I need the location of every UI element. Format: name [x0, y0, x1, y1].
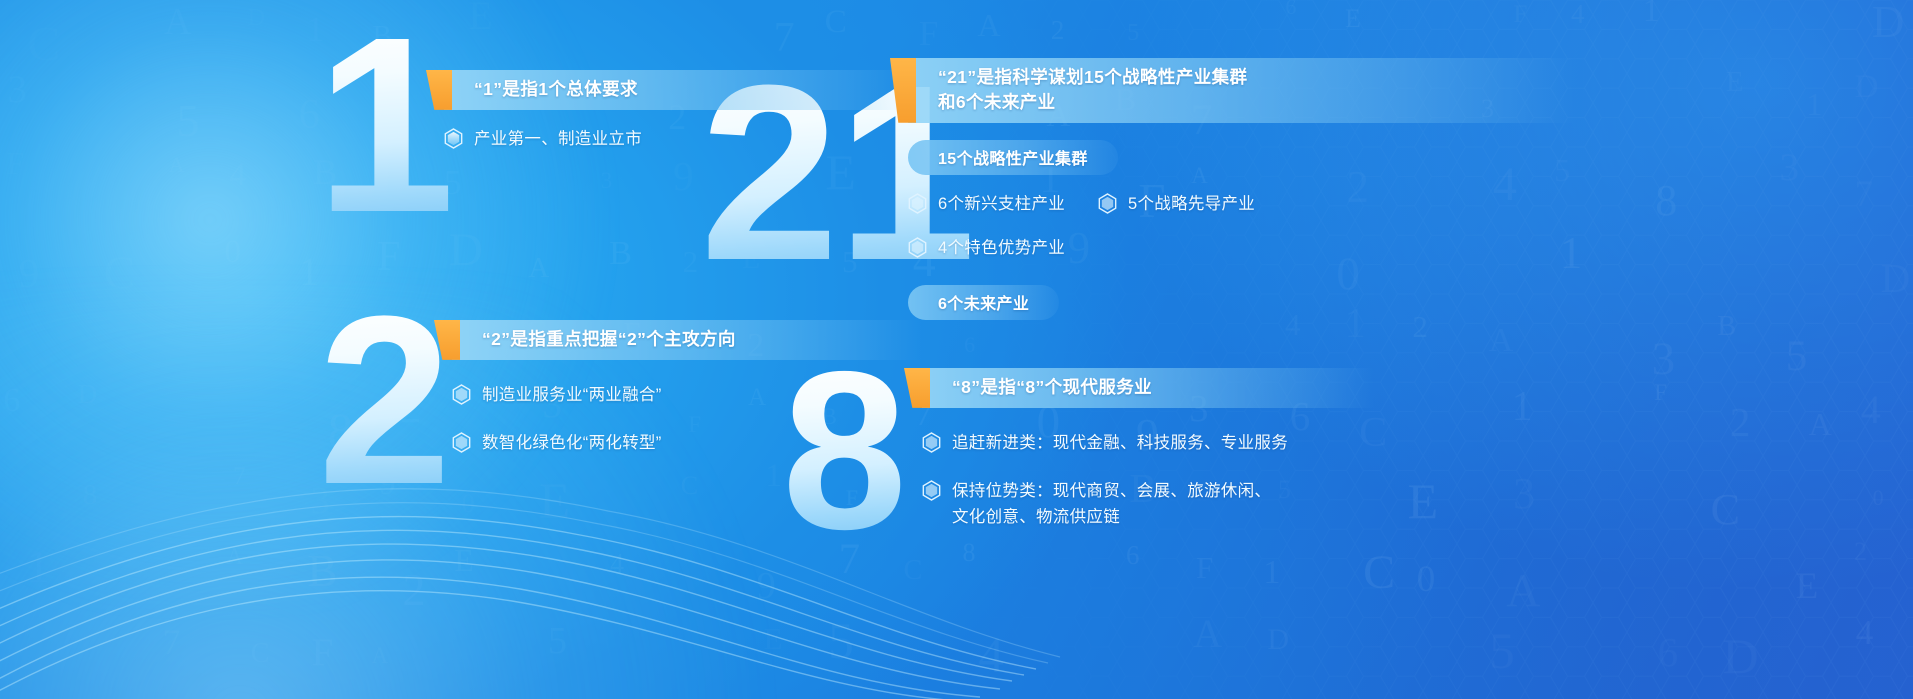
- section-2-title: “2”是指重点把握“2”个主攻方向: [482, 327, 736, 352]
- pill-label: 6个未来产业: [938, 296, 1029, 313]
- list-item-label: 产业第一、制造业立市: [474, 126, 642, 152]
- background-code-glyph: 4: [229, 159, 246, 192]
- list-item-label: 保持位势类：现代商贸、会展、旅游休闲、 文化创意、物流供应链: [952, 478, 1271, 530]
- section-21-pill-1: 15个战略性产业集群: [908, 140, 1118, 175]
- hexagon-bullet-icon: [908, 237, 927, 266]
- section-21-bullets: 6个新兴支柱产业 5个战略先导产业: [908, 191, 1868, 266]
- hexagon-bullet-icon: [452, 384, 471, 413]
- background-code-glyph: D: [78, 381, 98, 408]
- list-item: 追赶新进类：现代金融、科技服务、专业服务: [922, 430, 1288, 461]
- hexagon-bullet-icon: [1098, 193, 1117, 222]
- background-code-glyph: 0: [225, 236, 242, 269]
- list-item-label: 数智化绿色化“两化转型”: [482, 430, 662, 456]
- section-2-bullets: 制造业服务业“两业融合” 数智化绿色化“两化转型”: [452, 382, 922, 461]
- bullet-row: 产业第一、制造业立市: [444, 126, 914, 157]
- section-1-bullets: 产业第一、制造业立市: [444, 126, 914, 157]
- hexagon-bullet-icon: [452, 432, 471, 461]
- section-8-bullets: 追赶新进类：现代金融、科技服务、专业服务 保持位势类：现代商贸、会展、旅游休闲、…: [922, 430, 1622, 530]
- list-item: 保持位势类：现代商贸、会展、旅游休闲、 文化创意、物流供应链: [922, 478, 1271, 530]
- section-8-title: “8”是指“8”个现代服务业: [952, 375, 1152, 400]
- section-21-title: “21”是指科学谋划15个战略性产业集群 和6个未来产业: [938, 65, 1247, 115]
- background-code-glyph: A: [169, 154, 185, 176]
- background-code-glyph: D: [248, 6, 265, 30]
- hexagon-bullet-icon: [922, 432, 941, 461]
- bullet-row: 6个新兴支柱产业 5个战略先导产业: [908, 191, 1868, 222]
- background-code-glyph: 5: [176, 98, 199, 144]
- background-code-glyph: 3: [601, 169, 613, 192]
- list-item: 制造业服务业“两业融合”: [452, 382, 662, 413]
- background-code-glyph: E: [468, 0, 492, 36]
- background-code-glyph: F: [7, 147, 25, 179]
- list-item: 4个特色优势产业: [908, 235, 1098, 266]
- numeral-2: 2: [318, 300, 449, 502]
- section-2: “2”是指重点把握“2”个主攻方向 制造业服务业“两业融合”: [452, 320, 922, 461]
- section-8: “8”是指“8”个现代服务业 追赶新进类：现代金融、科技服务、专业服务: [922, 368, 1622, 530]
- hexagon-bullet-icon: [922, 480, 941, 509]
- section-1-title: “1”是指1个总体要求: [474, 77, 638, 102]
- section-2-title-bar: “2”是指重点把握“2”个主攻方向: [452, 320, 922, 360]
- bullet-row: 制造业服务业“两业融合”: [452, 382, 922, 413]
- background-code-glyph: C: [104, 250, 135, 297]
- background-code-glyph: 3: [7, 70, 27, 109]
- section-21-pill-2: 6个未来产业: [908, 285, 1059, 320]
- section-8-title-bar: “8”是指“8”个现代服务业: [922, 368, 1374, 408]
- background-code-glyph: B: [609, 237, 632, 271]
- background-code-glyph: A: [528, 254, 549, 283]
- bullet-row: 保持位势类：现代商贸、会展、旅游休闲、 文化创意、物流供应链: [922, 478, 1622, 530]
- section-21-title-bar: “21”是指科学谋划15个战略性产业集群 和6个未来产业: [908, 58, 1574, 123]
- section-1: “1”是指1个总体要求 产业第一、制造业立市: [444, 70, 914, 157]
- list-item-label: 4个特色优势产业: [938, 235, 1065, 261]
- list-item: 产业第一、制造业立市: [444, 126, 642, 157]
- background-code-glyph: A: [164, 3, 191, 41]
- background-code-glyph: D: [449, 227, 483, 274]
- list-item-label: 制造业服务业“两业融合”: [482, 382, 662, 408]
- background-code-glyph: 6: [3, 384, 20, 418]
- list-item-label: 追赶新进类：现代金融、科技服务、专业服务: [952, 430, 1288, 456]
- pill-label: 15个战略性产业集群: [938, 151, 1088, 168]
- list-item-label: 5个战略先导产业: [1128, 191, 1255, 217]
- hexagon-bullet-icon: [908, 193, 927, 222]
- list-item-label: 6个新兴支柱产业: [938, 191, 1065, 217]
- background-code-glyph: 9: [673, 156, 694, 197]
- numeral-1: 1: [316, 20, 453, 230]
- list-item: 5个战略先导产业: [1098, 191, 1398, 222]
- background-code-glyph: C: [27, 19, 60, 68]
- bullet-row: 追赶新进类：现代金融、科技服务、专业服务: [922, 430, 1622, 461]
- list-item: 6个新兴支柱产业: [908, 191, 1098, 222]
- bullet-row: 数智化绿色化“两化转型”: [452, 430, 922, 461]
- bullet-row: 4个特色优势产业: [908, 235, 1868, 266]
- background-code-glyph: 2: [683, 246, 699, 277]
- background-code-glyph: 9: [19, 253, 40, 294]
- section-1-title-bar: “1”是指1个总体要求: [444, 70, 914, 110]
- section-21: “21”是指科学谋划15个战略性产业集群 和6个未来产业 15个战略性产业集群 …: [908, 58, 1868, 320]
- list-item: 数智化绿色化“两化转型”: [452, 430, 662, 461]
- hexagon-bullet-icon: [444, 128, 463, 157]
